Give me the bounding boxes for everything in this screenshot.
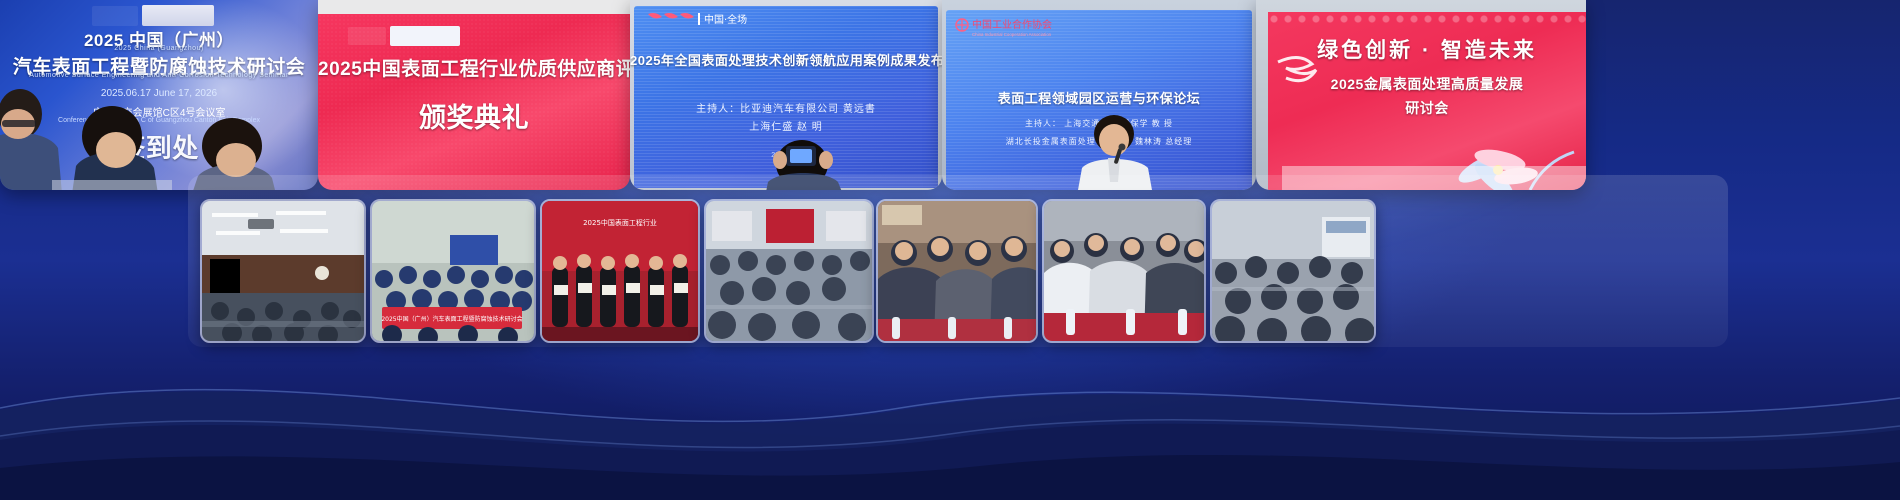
panel3-title: 2025年全国表面处理技术创新领航应用案例成果发布会	[630, 50, 942, 69]
thumb-exhibition-image	[1212, 201, 1374, 341]
thumb-panel-audience-image	[878, 201, 1036, 341]
thumb-audience-seated[interactable]	[704, 199, 874, 343]
thumb-roundtable-image	[1044, 201, 1204, 341]
panel-green-innovation[interactable]: 绿色创新 · 智造未来 2025金属表面处理高质量发展 研讨会	[1256, 0, 1586, 190]
thumb-roundtable-guests[interactable]	[1042, 199, 1206, 343]
thumb2-banner-caption: 2025中国（广州）汽车表面工程暨防腐蚀技术研讨会	[381, 315, 522, 323]
cica-logo-icon: 中国工业合作协会 China Industrial Cooperation As…	[954, 16, 1070, 38]
thumb-audience-image	[706, 201, 872, 341]
svg-text:China Industrial Cooperation A: China Industrial Cooperation Association	[972, 32, 1052, 37]
banner-lace-border	[1268, 12, 1586, 26]
association-logo-icon: 中国·全场	[646, 10, 766, 28]
thumb-conference-hall-image	[202, 201, 364, 341]
top-panel-row: 2025 中国（广州） 2025 China (Guangzhou) 汽车表面工…	[0, 0, 1900, 192]
event-collage-banner: 2025 中国（广州） 2025 China (Guangzhou) 汽车表面工…	[0, 0, 1900, 500]
panel1-title-en-2: Automotive Surface Engineering and Anti-…	[0, 72, 318, 79]
sf-expo-logo	[142, 5, 214, 26]
thumb-award-stage-image: 2025中国表面工程行业	[542, 201, 698, 341]
thumb-award-winners-stage[interactable]: 2025中国表面工程行业	[540, 199, 700, 343]
panel2-title: 2025中国表面工程行业优质供应商评选	[318, 54, 630, 81]
svg-text:中国·全场: 中国·全场	[704, 13, 747, 26]
panel2-subtitle: 颁奖典礼	[318, 96, 630, 135]
ufi-approved-event-logo	[348, 27, 386, 45]
thumb-exhibition-crowd[interactable]	[1210, 199, 1376, 343]
thumb-conference-hall[interactable]	[200, 199, 366, 343]
panel3-host-line-1: 主持人：比亚迪汽车有限公司 黄远書	[630, 100, 942, 115]
thumb-group-photo-image: 2025中国（广州）汽车表面工程暨防腐蚀技术研讨会	[372, 201, 534, 341]
thumb3-stage-caption: 2025中国表面工程行业	[583, 218, 657, 227]
green-innovation-red-banner: 绿色创新 · 智造未来 2025金属表面处理高质量发展 研讨会	[1268, 12, 1586, 190]
panel1-title-en-1: 2025 China (Guangzhou)	[0, 45, 318, 52]
svg-text:中国工业合作协会: 中国工业合作协会	[972, 18, 1052, 31]
ufi-approved-event-logo	[92, 6, 138, 26]
panel-release-conference[interactable]: 中国·全场 2025年全国表面处理技术创新领航应用案例成果发布会 主持人：比亚迪…	[630, 0, 942, 190]
thumb-panel-audience-front[interactable]	[876, 199, 1038, 343]
panel4-title: 表面工程领域园区运营与环保论坛	[942, 88, 1256, 107]
panel-award-ceremony[interactable]: 2025中国表面工程行业优质供应商评选 颁奖典礼	[318, 0, 630, 190]
panel-park-forum[interactable]: 中国工业合作协会 China Industrial Cooperation As…	[942, 0, 1256, 190]
sf-expo-logo	[390, 26, 460, 46]
cloud-swirl-ornament	[1272, 48, 1342, 104]
panel-seminar-backdrop[interactable]: 2025 中国（广州） 2025 China (Guangzhou) 汽车表面工…	[0, 0, 318, 190]
thumb-group-photo-red-banner[interactable]: 2025中国（广州）汽车表面工程暨防腐蚀技术研讨会	[370, 199, 536, 343]
